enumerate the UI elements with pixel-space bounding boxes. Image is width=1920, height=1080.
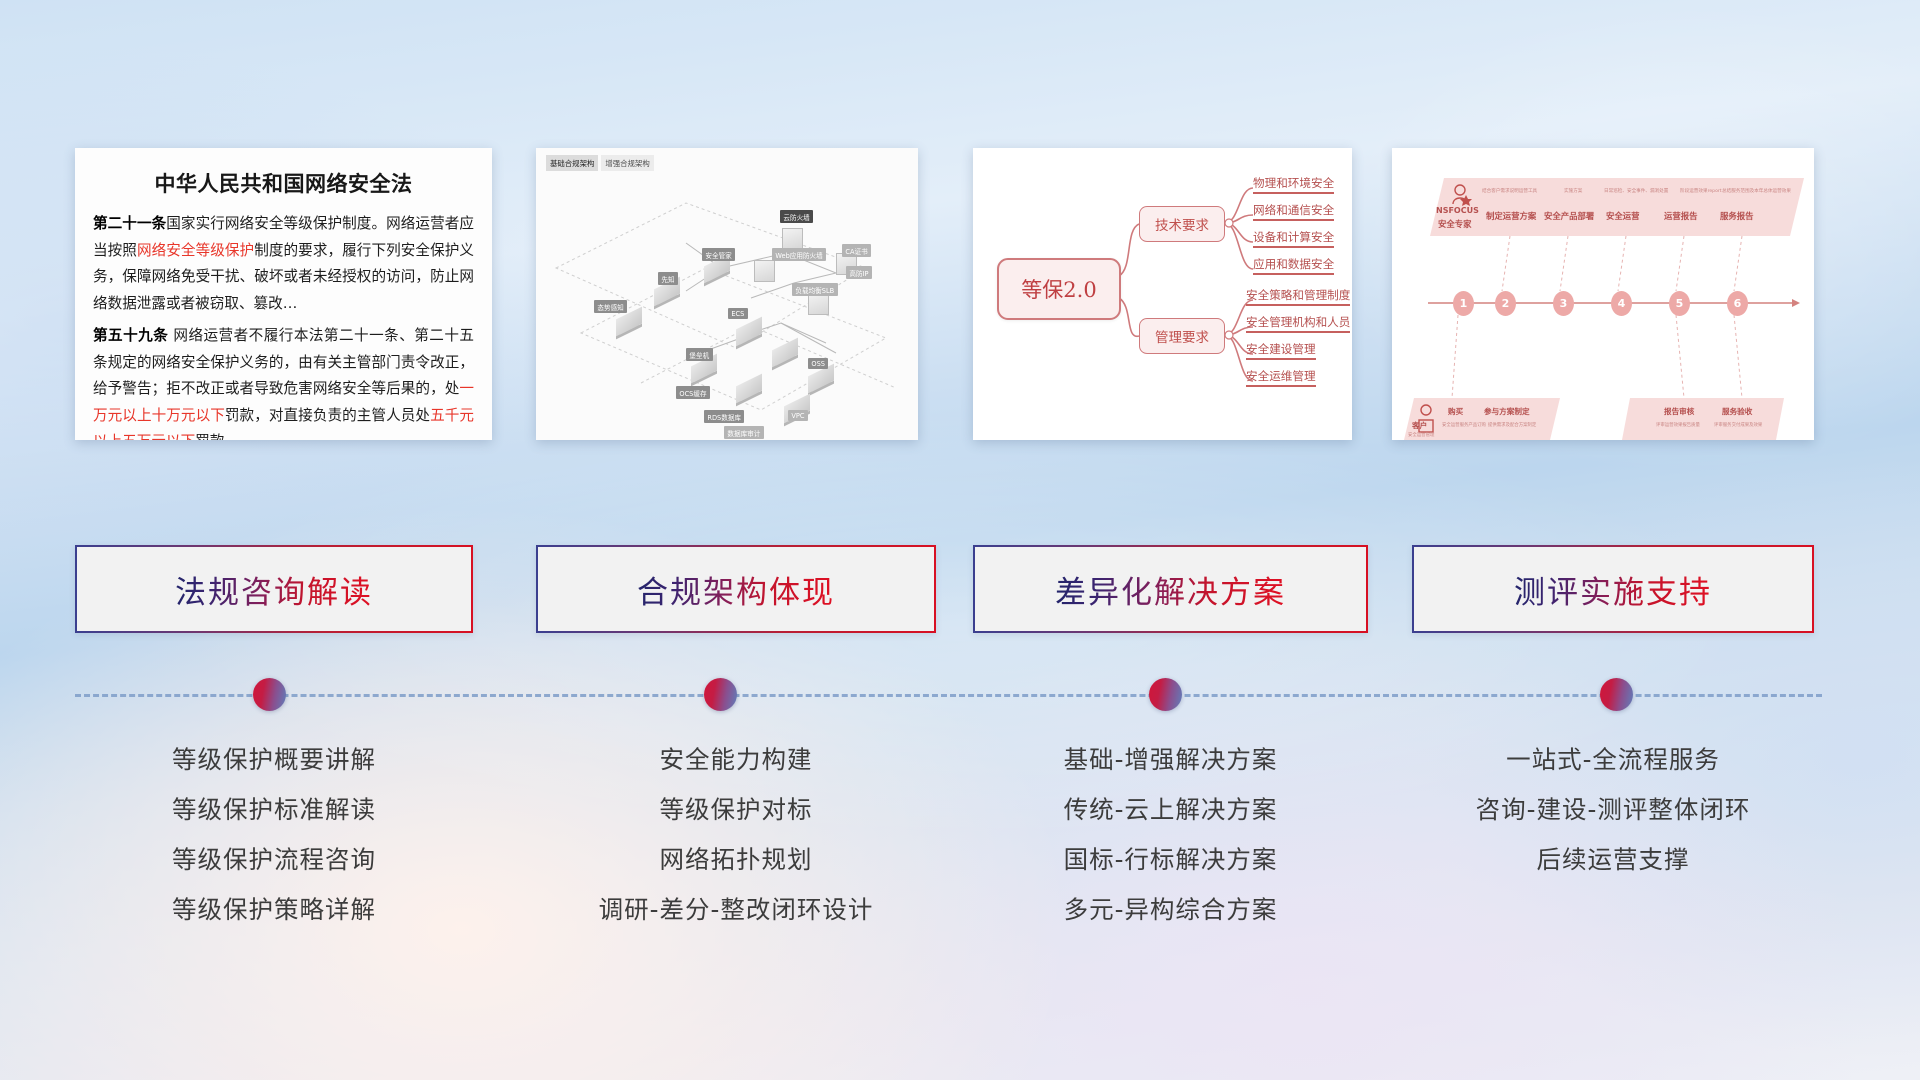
step6-sub: 总结服务范围及本年总体运营效果 [1722, 188, 1791, 194]
list-item: 等级保护概要讲解 [75, 735, 473, 785]
node-label-slb: 负载均衡SLB [792, 283, 838, 296]
client-sub: 安全运营管理 [1408, 432, 1434, 438]
node-label-vpc: VPC [788, 410, 808, 421]
step4-label: 安全运营 [1606, 210, 1640, 222]
section-title-row: 法规咨询解读 合规架构体现 差异化解决方案 测评实施支持 [0, 545, 1920, 635]
bottom-label-service-acceptance: 服务验收 [1722, 406, 1752, 417]
step3-label: 安全产品部署 [1544, 210, 1594, 222]
mindmap-leaf-physical-env: 物理和环境安全 [1253, 176, 1334, 194]
list-item: 等级保护对标 [536, 785, 936, 835]
list-item: 等级保护流程咨询 [75, 835, 473, 885]
mindmap: 等保2.0 技术要求 物理和环境安全 网络和通信安全 设备和计算安全 应用和数据… [973, 148, 1352, 440]
list-item: 咨询-建设-测评整体闭环 [1412, 785, 1814, 835]
detail-list-row: 等级保护概要讲解 等级保护标准解读 等级保护流程咨询 等级保护策略详解 安全能力… [0, 735, 1920, 955]
step5-sub: 阶段运营效果report [1680, 188, 1722, 194]
law-article-59: 第五十九条 网络运营者不履行本法第二十一条、第二十五条规定的网络安全保护义务的，… [93, 323, 474, 440]
law-document: 中华人民共和国网络安全法 第二十一条国家实行网络安全等级保护制度。网络运营者应当… [75, 148, 492, 440]
timeline-step-3[interactable]: 3 [1553, 291, 1574, 316]
card-cybersecurity-law[interactable]: 中华人民共和国网络安全法 第二十一条国家实行网络安全等级保护制度。网络运营者应当… [75, 148, 492, 440]
step5-label: 运营报告 [1664, 210, 1698, 222]
brand-sublabel: 安全专家 [1438, 218, 1472, 230]
article-59-text-c: 罚款。 [195, 433, 239, 440]
architecture-connector-lines [536, 148, 918, 440]
node-label-ocs-cache: OCS缓存 [676, 386, 710, 399]
card-service-timeline[interactable]: NSFOCUS 安全专家 结合客户需求说明运营工具 实施方案 日常巡检、安全事件… [1392, 148, 1814, 440]
node-label-cloud-firewall: 云防火墙 [780, 210, 813, 223]
step2-label: 制定运营方案 [1486, 210, 1536, 222]
article-59-text-b: 罚款，对直接负责的主管人员处 [225, 407, 430, 424]
timeline-dot-3[interactable] [1149, 678, 1182, 711]
mindmap-leaf-construction-mgmt: 安全建设管理 [1246, 342, 1316, 360]
timeline-step-5[interactable]: 5 [1669, 291, 1690, 316]
timeline-connector [0, 660, 1920, 720]
iso-top-cloudfw [782, 228, 803, 250]
node-label-rds-database: RDS数据库 [704, 410, 744, 423]
mindmap-leaf-org-personnel: 安全管理机构和人员 [1246, 315, 1350, 333]
architecture-diagram: 基础合规架构 增强合规架构 [536, 148, 918, 440]
client-label: 客户 [1412, 420, 1427, 431]
list-column-4: 一站式-全流程服务 咨询-建设-测评整体闭环 后续运营支撑 [1412, 735, 1814, 885]
mindmap-leaf-ops-mgmt: 安全运维管理 [1246, 369, 1316, 387]
title-text-1: 法规咨询解读 [175, 567, 373, 612]
bottom-sub-participate: 提供需求及配合方案制定 [1488, 422, 1536, 428]
service-timeline-diagram: NSFOCUS 安全专家 结合客户需求说明运营工具 实施方案 日常巡检、安全事件… [1392, 148, 1814, 440]
card-cloud-architecture[interactable]: 基础合规架构 增强合规架构 [536, 148, 918, 440]
law-article-21: 第二十一条国家实行网络安全等级保护制度。网络运营者应当按照网络安全等级保护制度的… [93, 211, 474, 317]
node-label-ca-certificate: CA证书 [842, 244, 871, 257]
list-item: 多元-异构综合方案 [973, 885, 1368, 935]
step6-label: 服务报告 [1720, 210, 1754, 222]
mindmap-branch-management[interactable]: 管理要求 [1139, 318, 1225, 354]
timeline-dot-2[interactable] [704, 678, 737, 711]
bottom-label-purchase: 购买 [1448, 406, 1463, 417]
node-label-ecs: ECS [728, 308, 748, 319]
node-label-bastion-host: 堡垒机 [686, 348, 713, 361]
mindmap-root-node[interactable]: 等保2.0 [997, 258, 1121, 320]
step2-sub: 结合客户需求说明运营工具 [1482, 188, 1537, 194]
list-item: 后续运营支撑 [1412, 835, 1814, 885]
screenshot-card-row: 中华人民共和国网络安全法 第二十一条国家实行网络安全等级保护制度。网络运营者应当… [0, 148, 1920, 440]
article-59-label: 第五十九条 [93, 327, 168, 344]
list-column-2: 安全能力构建 等级保护对标 网络拓扑规划 调研-差分-整改闭环设计 [536, 735, 936, 935]
mindmap-leaf-app-data: 应用和数据安全 [1253, 257, 1334, 275]
node-label-waf: Web应用防火墙 [772, 248, 826, 261]
list-item: 传统-云上解决方案 [973, 785, 1368, 835]
mindmap-leaf-policy-system: 安全策略和管理制度 [1246, 288, 1350, 306]
bottom-sub-purchase: 安全运营服务产品订购 [1442, 422, 1486, 428]
bottom-label-participate: 参与方案制定 [1484, 406, 1530, 417]
card-dengbao-mindmap[interactable]: 等保2.0 技术要求 物理和环境安全 网络和通信安全 设备和计算安全 应用和数据… [973, 148, 1352, 440]
mindmap-branch-technical[interactable]: 技术要求 [1139, 206, 1225, 242]
list-item: 安全能力构建 [536, 735, 936, 785]
mindmap-leaf-network-comm: 网络和通信安全 [1253, 203, 1334, 221]
timeline-step-6[interactable]: 6 [1727, 291, 1748, 316]
node-label-security-housekeeper: 安全管家 [702, 248, 735, 261]
timeline-dashed-line [75, 694, 1822, 697]
list-item: 基础-增强解决方案 [973, 735, 1368, 785]
bottom-sub-report-review: 评审运营效果报告质量 [1656, 422, 1700, 428]
timeline-step-4[interactable]: 4 [1611, 291, 1632, 316]
timeline-step-2[interactable]: 2 [1495, 291, 1516, 316]
timeline-dot-1[interactable] [253, 678, 286, 711]
list-item: 网络拓扑规划 [536, 835, 936, 885]
node-label-database-audit: 数据库审计 [724, 426, 764, 439]
node-label-anti-ddos-ip: 高防IP [846, 266, 872, 279]
list-item: 等级保护标准解读 [75, 785, 473, 835]
title-box-assessment-support[interactable]: 测评实施支持 [1412, 545, 1814, 633]
bottom-sub-service-acceptance: 评审服务交付成果及效果 [1714, 422, 1762, 428]
step4-sub: 日常巡检、安全事件、漏洞处置 [1604, 188, 1668, 194]
step3-sub: 实施方案 [1564, 188, 1582, 194]
title-box-regulation-consulting[interactable]: 法规咨询解读 [75, 545, 473, 633]
title-box-differentiated-solution[interactable]: 差异化解决方案 [973, 545, 1368, 633]
iso-top-waf [754, 260, 775, 282]
list-column-3: 基础-增强解决方案 传统-云上解决方案 国标-行标解决方案 多元-异构综合方案 [973, 735, 1368, 935]
list-item: 一站式-全流程服务 [1412, 735, 1814, 785]
article-21-label: 第二十一条 [93, 215, 166, 232]
title-text-2: 合规架构体现 [637, 567, 835, 612]
list-item: 等级保护策略详解 [75, 885, 473, 935]
title-box-compliance-architecture[interactable]: 合规架构体现 [536, 545, 936, 633]
list-item: 调研-差分-整改闭环设计 [536, 885, 936, 935]
list-item: 国标-行标解决方案 [973, 835, 1368, 885]
list-column-1: 等级保护概要讲解 等级保护标准解读 等级保护流程咨询 等级保护策略详解 [75, 735, 473, 935]
timeline-step-1[interactable]: 1 [1453, 291, 1474, 316]
node-label-xianzhi: 先知 [658, 272, 678, 285]
node-label-oss: OSS [808, 358, 828, 369]
title-text-3: 差异化解决方案 [1055, 567, 1286, 612]
bottom-label-report-review: 报告审核 [1664, 406, 1694, 417]
article-21-highlight: 网络安全等级保护 [137, 242, 254, 259]
timeline-dot-4[interactable] [1600, 678, 1633, 711]
brand-label: NSFOCUS [1436, 206, 1479, 215]
node-label-situational-awareness: 态势感知 [594, 300, 627, 313]
title-text-4: 测评实施支持 [1514, 567, 1712, 612]
law-title: 中华人民共和国网络安全法 [93, 168, 474, 198]
mindmap-leaf-device-compute: 设备和计算安全 [1253, 230, 1334, 248]
iso-top-slb [808, 293, 829, 315]
